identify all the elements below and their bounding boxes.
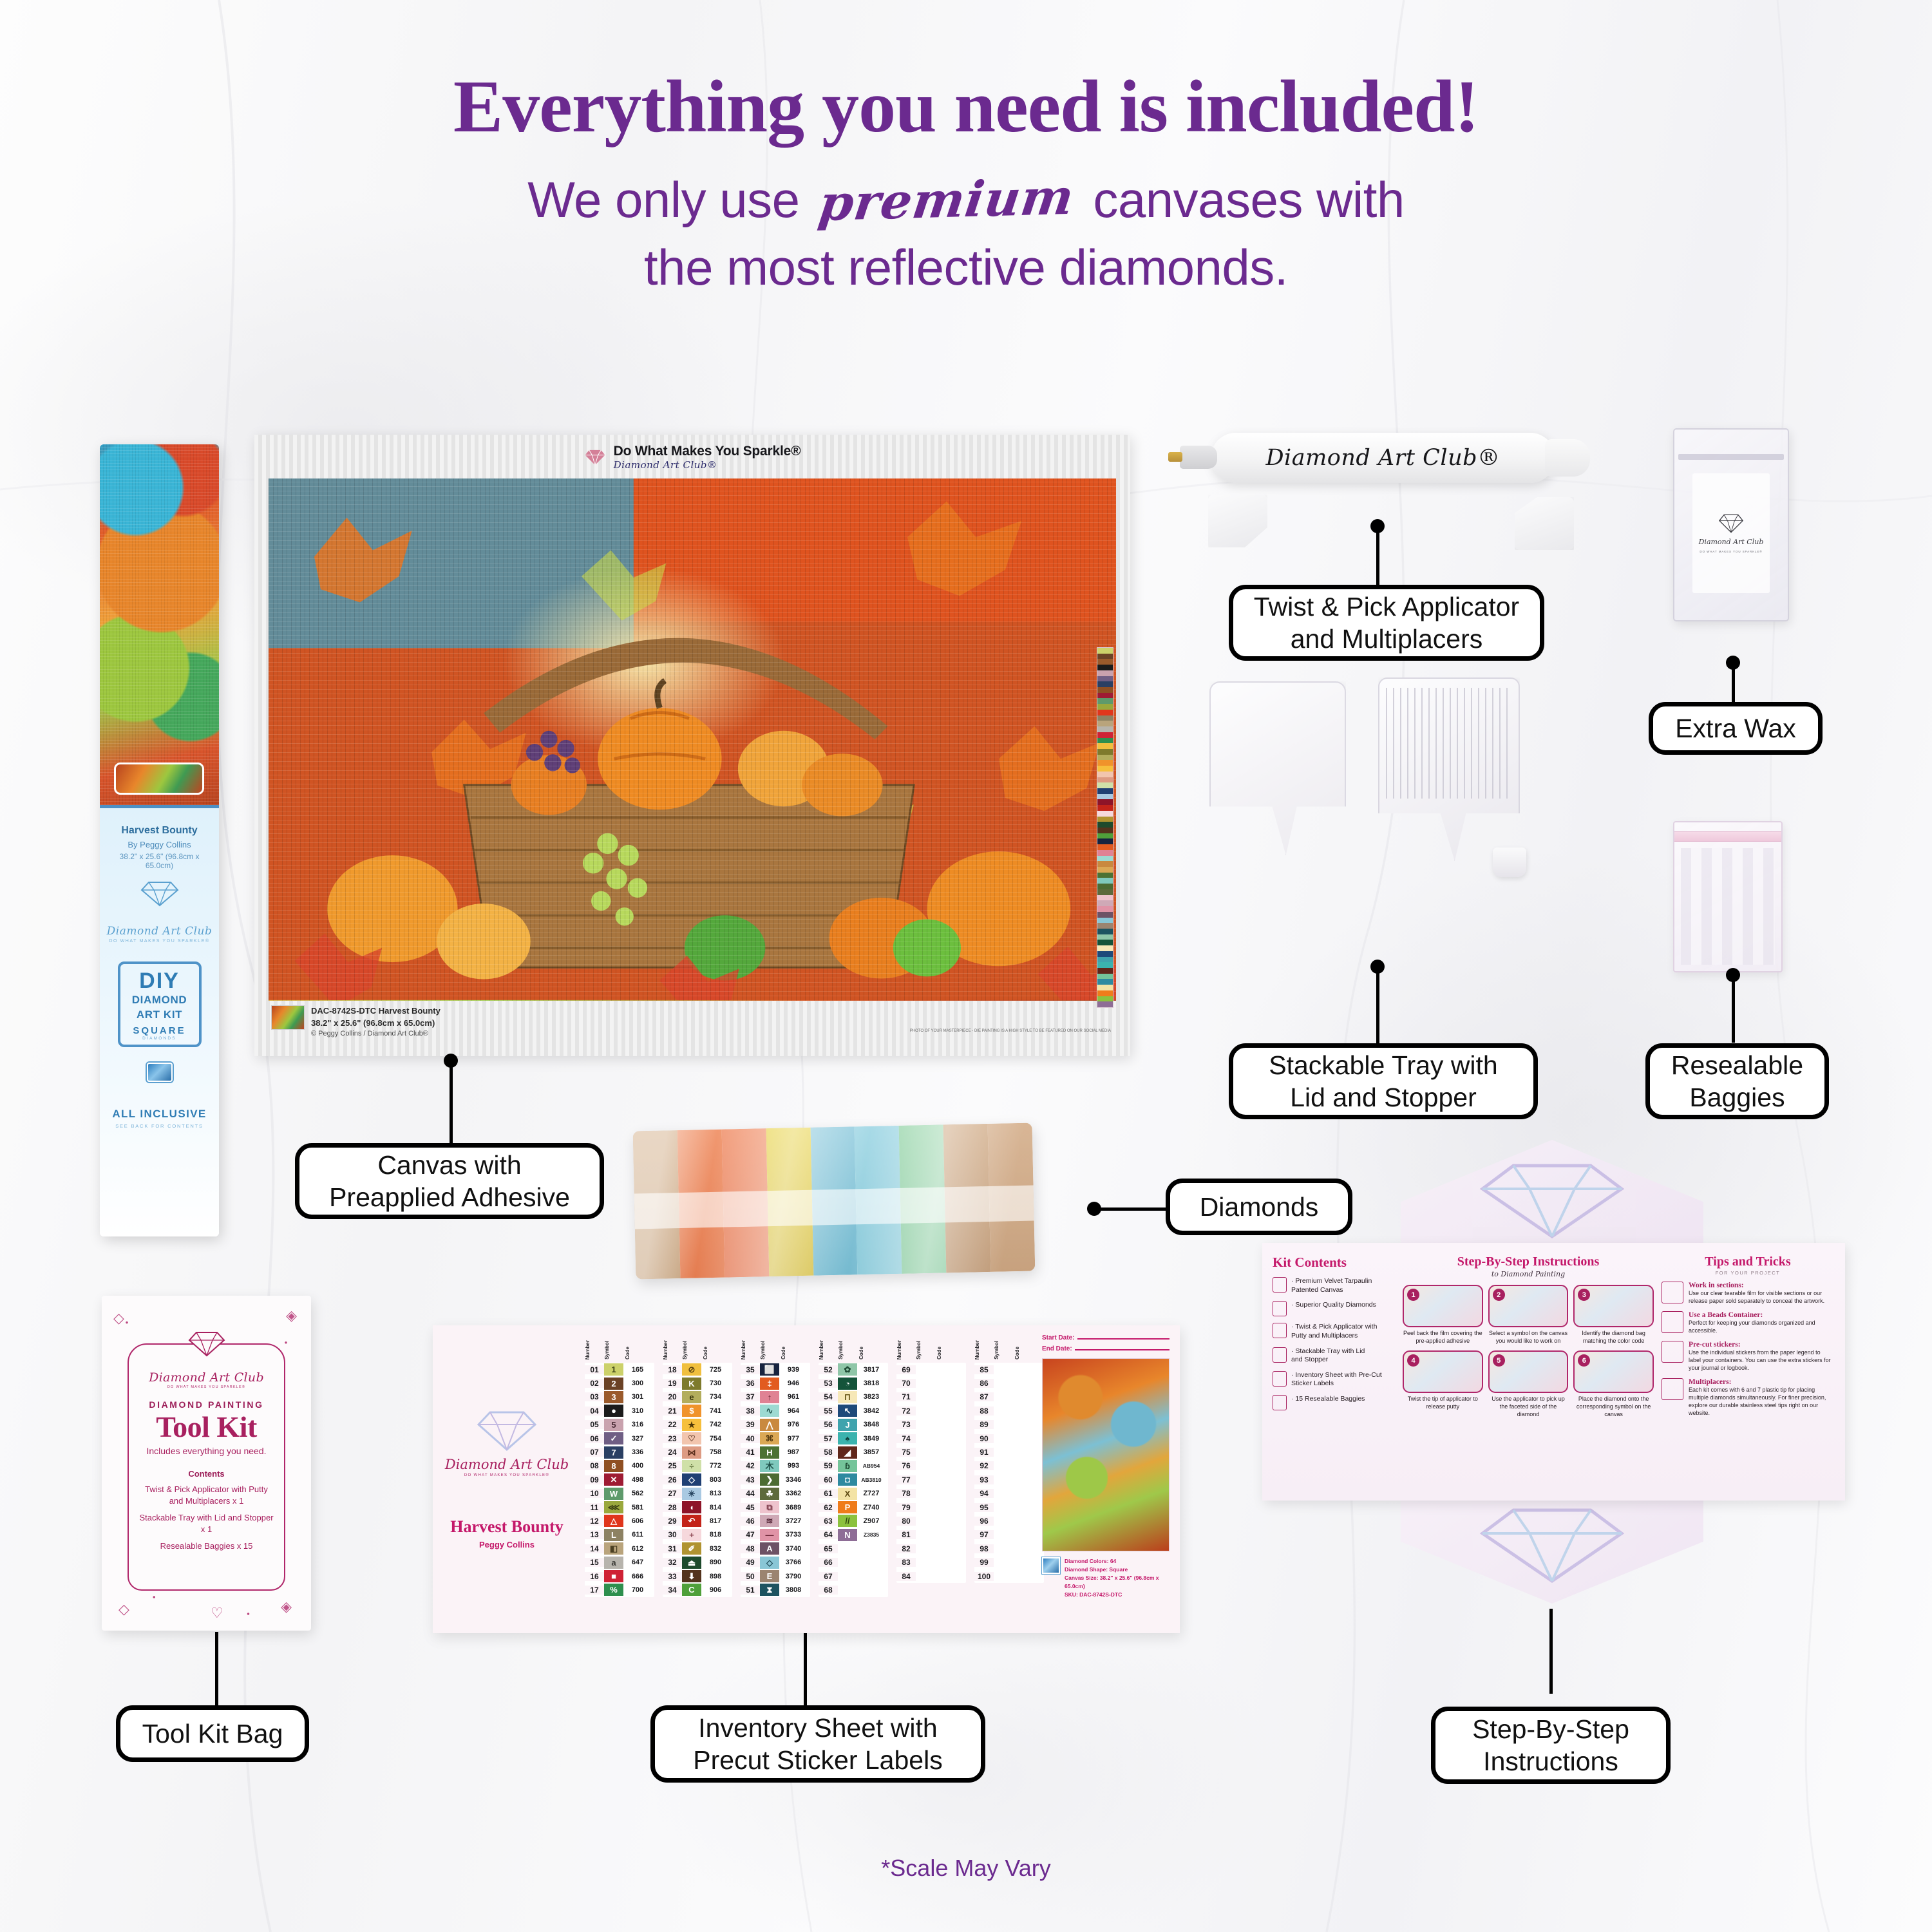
inventory-code: 976 — [779, 1421, 808, 1428]
inventory-code: 817 — [701, 1517, 730, 1525]
tip-icon — [1662, 1282, 1683, 1303]
inventory-number: 37 — [741, 1392, 760, 1401]
inventory-number: 75 — [896, 1448, 916, 1457]
inventory-row: 26◇803 — [663, 1473, 732, 1486]
gem-decor-icon: ♡ — [211, 1605, 223, 1622]
inventory-code: 612 — [623, 1545, 652, 1553]
page-subtitle: We only use premium canvases with the mo… — [0, 166, 1932, 301]
legend-swatch — [1097, 782, 1113, 788]
kit-contents-item: · 15 Resealable Baggies — [1273, 1395, 1399, 1410]
end-date-field[interactable]: End Date: — [1042, 1345, 1170, 1352]
step-number-badge: 1 — [1407, 1289, 1419, 1301]
inventory-column: NumberSymbolCode35⬜93936‡94637↑96138∿964… — [741, 1336, 810, 1597]
inventory-header-number: Number — [819, 1340, 824, 1359]
inventory-column: NumberSymbolCode52✿381753◔381854Π382355↖… — [819, 1336, 888, 1597]
inventory-code: 741 — [701, 1407, 730, 1415]
inventory-number: 03 — [585, 1392, 604, 1401]
inventory-number: 28 — [663, 1503, 682, 1512]
legend-swatch — [1097, 698, 1113, 704]
inventory-row: 39⋀976 — [741, 1418, 810, 1432]
tip-heading: Pre-cut stickers: — [1689, 1341, 1834, 1349]
diamond-icon — [476, 1409, 538, 1453]
multiplacer-left — [1208, 495, 1267, 547]
twist-and-pick-applicator: Diamond Art Club® — [1211, 433, 1555, 483]
inventory-column: NumberSymbolCode858687888990919293949596… — [974, 1336, 1044, 1597]
tip-body: Perfect for keeping your diamonds organi… — [1689, 1320, 1834, 1335]
inventory-row: 33⬇898 — [663, 1569, 732, 1583]
inventory-row: 12△606 — [585, 1514, 654, 1528]
inventory-row: 53◔3818 — [819, 1376, 888, 1390]
legend-swatch — [1097, 828, 1113, 833]
instruction-step: 5Use the applicator to pick up the facet… — [1488, 1350, 1569, 1418]
inventory-code: 987 — [779, 1448, 808, 1456]
tips-column: Tips and Tricks FOR YOUR PROJECT Work in… — [1654, 1255, 1834, 1489]
kit-contents-item: · Superior Quality Diamonds — [1273, 1301, 1399, 1316]
step-number-badge: 2 — [1493, 1289, 1505, 1301]
applicator-brand: Diamond Art Club® — [1211, 433, 1555, 483]
sleeve-title: Harvest Bounty — [106, 824, 213, 838]
inventory-row: 04●310 — [585, 1404, 654, 1417]
inventory-symbol-swatch: A — [760, 1542, 779, 1555]
inventory-number: 44 — [741, 1489, 760, 1498]
inventory-symbol-swatch: ✓ — [604, 1432, 623, 1444]
inventory-symbol-swatch — [916, 1432, 935, 1444]
kit-contents-label: · Stackable Tray with Lid and Stopper — [1291, 1347, 1365, 1365]
legend-swatch — [1097, 912, 1113, 918]
inventory-row: 94 — [974, 1487, 1044, 1501]
inventory-code: Z3835 — [857, 1531, 885, 1538]
inventory-code: 961 — [779, 1393, 808, 1401]
callout-canvas[interactable]: Canvas with Preapplied Adhesive — [295, 1143, 604, 1219]
legend-swatch — [1097, 710, 1113, 715]
inventory-row: 13L611 — [585, 1528, 654, 1542]
inventory-symbol-swatch: Π — [838, 1391, 857, 1403]
leader-dot-baggies — [1726, 968, 1740, 982]
inventory-code: 3346 — [779, 1476, 808, 1484]
inventory-symbol-swatch: ● — [604, 1405, 623, 1417]
inventory-symbol-swatch: ⊘ — [682, 1363, 701, 1376]
legend-swatch — [1097, 1001, 1113, 1007]
inventory-symbol-swatch — [916, 1515, 935, 1527]
legend-swatch — [1097, 726, 1113, 732]
inventory-row: 11⋘581 — [585, 1501, 654, 1514]
kit-contents-label: · Superior Quality Diamonds — [1291, 1301, 1376, 1310]
inventory-number: 84 — [896, 1572, 916, 1581]
instruction-step: 1Peel back the film covering the pre-app… — [1403, 1285, 1483, 1345]
inventory-symbol-swatch: ❯ — [760, 1473, 779, 1486]
inventory-code: AB3810 — [857, 1477, 885, 1483]
inventory-row: 82 — [896, 1542, 966, 1555]
inventory-code: 3727 — [779, 1517, 808, 1525]
inventory-row: 022300 — [585, 1376, 654, 1390]
inventory-number: 02 — [585, 1379, 604, 1388]
inventory-symbol-swatch: ■ — [604, 1570, 623, 1582]
inventory-symbol-swatch — [916, 1460, 935, 1472]
inventory-row: 60◘AB3810 — [819, 1473, 888, 1486]
step-number-badge: 5 — [1493, 1354, 1505, 1367]
inventory-row: 16■666 — [585, 1569, 654, 1583]
canvas-sku-title: DAC-8742S-DTC Harvest Bounty — [311, 1005, 440, 1017]
tip-body: Use the individual stickers from the pap… — [1689, 1349, 1834, 1372]
inventory-symbol-swatch: ✕ — [604, 1473, 623, 1486]
toolkit-content-item: Resealable Baggies x 15 — [138, 1540, 275, 1552]
inventory-number: 05 — [585, 1420, 604, 1429]
tip-heading: Work in sections: — [1689, 1282, 1834, 1289]
callout-diamonds[interactable]: Diamonds — [1166, 1179, 1352, 1235]
inventory-symbol-swatch — [994, 1460, 1013, 1472]
inventory-symbol-swatch: ⧉ — [760, 1501, 779, 1513]
inventory-row: 87 — [974, 1390, 1044, 1404]
inventory-number: 89 — [974, 1420, 994, 1429]
instruction-step-caption: Use the applicator to pick up the facete… — [1488, 1396, 1569, 1418]
inventory-symbol-swatch — [994, 1378, 1013, 1390]
inventory-code: 772 — [701, 1462, 730, 1470]
inventory-row: 62PZ740 — [819, 1501, 888, 1514]
canvas-brand: Diamond Art Club® — [614, 459, 801, 471]
inventory-code: 3817 — [857, 1366, 885, 1374]
inventory-number: 80 — [896, 1517, 916, 1526]
inventory-row: 75 — [896, 1445, 966, 1459]
inventory-code: 3842 — [857, 1407, 885, 1415]
inventory-code: 3818 — [857, 1379, 885, 1387]
inventory-row: 93 — [974, 1473, 1044, 1486]
wax-tagline: DO WHAT MAKES YOU SPARKLE® — [1700, 550, 1762, 553]
inventory-row: 50E3790 — [741, 1569, 810, 1583]
instruction-step-caption: Peel back the film covering the pre-appl… — [1403, 1330, 1483, 1345]
inventory-number: 90 — [974, 1434, 994, 1443]
inventory-symbol-swatch: ⋈ — [682, 1446, 701, 1459]
inventory-row: 57♠3849 — [819, 1432, 888, 1445]
inventory-code: 754 — [701, 1435, 730, 1443]
instruction-step-caption: Place the diamond onto the corresponding… — [1573, 1396, 1654, 1418]
leader-dot-applicator — [1370, 519, 1385, 533]
inventory-symbol-swatch — [994, 1557, 1013, 1569]
inventory-symbol-swatch: ‡ — [760, 1378, 779, 1390]
inventory-number: 24 — [663, 1448, 682, 1457]
diamond-bags-film — [633, 1123, 1036, 1280]
inventory-symbol-swatch: ↶ — [682, 1515, 701, 1527]
inventory-symbol-swatch: 2 — [604, 1378, 623, 1390]
steps-title: Step-By-Step Instructions — [1403, 1255, 1654, 1269]
inventory-artwork-preview — [1042, 1358, 1170, 1551]
inventory-symbol-swatch: a — [604, 1557, 623, 1569]
inventory-number: 47 — [741, 1530, 760, 1539]
inventory-symbol-swatch: ⏏ — [682, 1557, 701, 1569]
inventory-number: 72 — [896, 1406, 916, 1416]
inventory-number: 79 — [896, 1503, 916, 1512]
instruction-sheet-body: Kit Contents · Premium Velvet Tarpaulin … — [1262, 1243, 1845, 1501]
gem-decor-icon: ◇ — [118, 1601, 129, 1618]
inventory-row: 72 — [896, 1404, 966, 1417]
inventory-symbol-swatch — [916, 1501, 935, 1513]
gem-decor-icon: ◈ — [281, 1598, 292, 1615]
inventory-row: 54Π3823 — [819, 1390, 888, 1404]
inventory-number: 25 — [663, 1461, 682, 1470]
inventory-number: 71 — [896, 1392, 916, 1401]
kit-contents-icon — [1273, 1301, 1287, 1316]
diamond-bags-pack — [633, 1123, 1036, 1280]
inventory-brand-tagline: DO WHAT MAKES YOU SPARKLE® — [464, 1473, 549, 1477]
tool-kit-bag: ◇ ◈ ◇ ◈ ♡ Diamond Art Club DO WHAT MAKES… — [102, 1296, 311, 1631]
kit-contents-label: · Inventory Sheet with Pre-Cut Sticker L… — [1291, 1371, 1382, 1388]
inventory-number: 98 — [974, 1544, 994, 1553]
inventory-symbol-swatch — [994, 1473, 1013, 1486]
legend-swatch — [1097, 794, 1113, 800]
start-date-field[interactable]: Start Date: — [1042, 1334, 1170, 1341]
legend-swatch — [1097, 878, 1113, 884]
inventory-code: 3790 — [779, 1573, 808, 1580]
inventory-column: NumberSymbolCode01116502230003330104●310… — [585, 1336, 654, 1597]
inventory-symbol-swatch: 8 — [604, 1460, 623, 1472]
legend-swatch — [1097, 822, 1113, 828]
inventory-header-symbol: Symbol — [838, 1341, 844, 1359]
inventory-number: 19 — [663, 1379, 682, 1388]
inventory-symbol-swatch: K — [682, 1378, 701, 1390]
square-diamond-icon — [147, 1063, 173, 1082]
kit-contents-title: Kit Contents — [1273, 1255, 1399, 1271]
inventory-number: 16 — [585, 1572, 604, 1581]
toolkit-content-item: Twist & Pick Applicator with Putty and M… — [138, 1484, 275, 1507]
inventory-row: 79 — [896, 1501, 966, 1514]
inventory-number: 38 — [741, 1406, 760, 1416]
subtitle-emphasis-premium: premium — [808, 164, 1084, 237]
inventory-row: 49◇3766 — [741, 1555, 810, 1569]
callout-tray[interactable]: Stackable Tray with Lid and Stopper — [1229, 1043, 1538, 1119]
inventory-number: 34 — [663, 1586, 682, 1595]
sleeve-artist: By Peggy Collins — [106, 839, 213, 851]
inventory-number: 73 — [896, 1420, 916, 1429]
inventory-row: 14◧612 — [585, 1542, 654, 1555]
leader-dot-wax — [1726, 656, 1740, 670]
instruction-step: 2Select a symbol on the canvas you would… — [1488, 1285, 1569, 1345]
inventory-symbol-swatch — [916, 1473, 935, 1486]
legend-swatch — [1097, 777, 1113, 783]
legend-swatch — [1097, 687, 1113, 693]
instruction-step-image: 3 — [1573, 1285, 1654, 1327]
inventory-number: 15 — [585, 1558, 604, 1567]
kit-contents-item: · Stackable Tray with Lid and Stopper — [1273, 1347, 1399, 1365]
inventory-number: 08 — [585, 1461, 604, 1470]
inventory-number: 81 — [896, 1530, 916, 1539]
inventory-row: 89 — [974, 1418, 1044, 1432]
legend-swatch — [1097, 962, 1113, 968]
inventory-number: 55 — [819, 1406, 838, 1416]
callout-inventory[interactable]: Inventory Sheet with Precut Sticker Labe… — [650, 1705, 985, 1783]
sleeve-brand: Diamond Art Club — [106, 925, 213, 938]
diamond-icon — [140, 880, 180, 907]
inventory-symbol-swatch — [994, 1501, 1013, 1513]
gem-decor-icon: ◇ — [113, 1310, 124, 1327]
callout-wax[interactable]: Extra Wax — [1649, 702, 1823, 755]
inventory-code: 3689 — [779, 1504, 808, 1511]
instruction-step-image: 5 — [1488, 1350, 1569, 1393]
inventory-symbol-swatch — [994, 1542, 1013, 1555]
kit-contents-icon — [1273, 1277, 1287, 1293]
inventory-row: 97 — [974, 1528, 1044, 1542]
inventory-number: 35 — [741, 1365, 760, 1374]
legend-swatch — [1097, 844, 1113, 850]
spec-sku: SKU: DAC-8742S-DTC — [1065, 1591, 1170, 1599]
inventory-row: 24⋈758 — [663, 1445, 732, 1459]
inventory-row: 88 — [974, 1404, 1044, 1417]
inventory-row: 63//Z907 — [819, 1514, 888, 1528]
inventory-symbol-swatch — [916, 1542, 935, 1555]
inventory-row: 86 — [974, 1376, 1044, 1390]
callout-toolkit[interactable]: Tool Kit Bag — [116, 1705, 309, 1762]
inventory-row: 34C906 — [663, 1583, 732, 1596]
leader-dot-tray — [1370, 960, 1385, 974]
inventory-number: 46 — [741, 1517, 760, 1526]
steps-subtitle: to Diamond Painting — [1403, 1270, 1654, 1278]
legend-swatch — [1097, 817, 1113, 822]
inventory-code: 3848 — [857, 1421, 885, 1428]
toolkit-kicker: DIAMOND PAINTING — [138, 1399, 275, 1410]
inventory-symbol-swatch: ✿ — [838, 1363, 857, 1376]
legend-swatch — [1097, 743, 1113, 749]
inventory-symbol-swatch — [994, 1529, 1013, 1541]
legend-swatch — [1097, 721, 1113, 726]
inventory-row: 077336 — [585, 1445, 654, 1459]
inventory-number: 13 — [585, 1530, 604, 1539]
inventory-row: 91 — [974, 1445, 1044, 1459]
inventory-row: 45⧉3689 — [741, 1501, 810, 1514]
inventory-symbol-swatch: E — [760, 1570, 779, 1582]
legend-swatch — [1097, 788, 1113, 794]
callout-baggies[interactable]: Resealable Baggies — [1645, 1043, 1829, 1119]
tip-heading: Multiplacers: — [1689, 1378, 1834, 1386]
legend-swatch — [1097, 766, 1113, 772]
inventory-row: 36‡946 — [741, 1376, 810, 1390]
instruction-step-image: 6 — [1573, 1350, 1654, 1393]
inventory-number: 51 — [741, 1586, 760, 1595]
product-sleeve: Harvest Bounty By Peggy Collins 38.2" x … — [100, 444, 219, 1236]
inventory-code: Z740 — [857, 1504, 885, 1511]
leader-line-inventory — [804, 1633, 807, 1716]
headline-block: Everything you need is included! We only… — [0, 70, 1932, 301]
legend-swatch — [1097, 951, 1113, 957]
spec-canvas-size: Canvas Size: 38.2" x 25.6" (96.8cm x 65.… — [1065, 1574, 1170, 1591]
kit-contents-label: · 15 Resealable Baggies — [1291, 1395, 1365, 1404]
subtitle-line-2: the most reflective diamonds. — [644, 239, 1288, 296]
kit-contents-item: · Premium Velvet Tarpaulin Patented Canv… — [1273, 1277, 1399, 1294]
inventory-number: 63 — [819, 1517, 838, 1526]
inventory-number: 97 — [974, 1530, 994, 1539]
toolkit-brand-tagline: DO WHAT MAKES YOU SPARKLE® — [138, 1385, 275, 1389]
inventory-symbol-swatch: 1 — [604, 1363, 623, 1376]
inventory-symbol-swatch: ↑ — [760, 1391, 779, 1403]
legend-swatch — [1097, 738, 1113, 744]
legend-swatch — [1097, 760, 1113, 766]
inventory-number: 12 — [585, 1517, 604, 1526]
inventory-symbol-swatch: ◢ — [838, 1446, 857, 1459]
inventory-code: 734 — [701, 1393, 730, 1401]
diamond-emblem-icon — [1475, 1502, 1629, 1586]
inventory-brand: Diamond Art Club — [445, 1457, 569, 1472]
kit-contents-label: · Premium Velvet Tarpaulin Patented Canv… — [1291, 1277, 1372, 1294]
inventory-code: 310 — [623, 1407, 652, 1415]
leader-line-applicator — [1376, 527, 1379, 585]
toolkit-tagline: Includes everything you need. — [138, 1446, 275, 1456]
inventory-code: 3823 — [857, 1393, 885, 1401]
inventory-symbol-swatch: C — [682, 1584, 701, 1596]
tray-ribs — [1386, 688, 1512, 799]
inventory-row: 23♡754 — [663, 1432, 732, 1445]
inventory-row: 22★742 — [663, 1418, 732, 1432]
inventory-row: 99 — [974, 1555, 1044, 1569]
inventory-number: 01 — [585, 1365, 604, 1374]
scale-disclaimer: *Scale May Vary — [0, 1855, 1932, 1882]
inventory-number: 82 — [896, 1544, 916, 1553]
multiplacer-right — [1515, 497, 1574, 550]
inventory-number: 48 — [741, 1544, 760, 1553]
instruction-step-caption: Identify the diamond bag matching the co… — [1573, 1330, 1654, 1345]
leader-line-tray — [1376, 966, 1379, 1043]
inventory-symbol-swatch — [994, 1570, 1013, 1582]
callout-instructions[interactable]: Step-By-Step Instructions — [1431, 1707, 1671, 1784]
inventory-code: 939 — [779, 1366, 808, 1374]
legend-swatch — [1097, 867, 1113, 873]
inventory-symbol-swatch: ⋀ — [760, 1419, 779, 1431]
diamond-logo-icon — [584, 449, 606, 466]
inventory-code: 562 — [623, 1490, 652, 1497]
inventory-row: 90 — [974, 1432, 1044, 1445]
inventory-row: 58◢3857 — [819, 1445, 888, 1459]
tray-stopper — [1493, 848, 1526, 877]
inventory-row: 64NZ3835 — [819, 1528, 888, 1542]
inventory-symbol-swatch: △ — [604, 1515, 623, 1527]
inventory-row: 18⊘725 — [663, 1363, 732, 1376]
inventory-code: 906 — [701, 1586, 730, 1594]
inventory-row: 52✿3817 — [819, 1363, 888, 1376]
inventory-row: 100 — [974, 1569, 1044, 1583]
inventory-row: 40⌘977 — [741, 1432, 810, 1445]
inventory-number: 21 — [663, 1406, 682, 1416]
inventory-number: 64 — [819, 1530, 838, 1539]
inventory-number: 85 — [974, 1365, 994, 1374]
inventory-number: 62 — [819, 1503, 838, 1512]
legend-swatch — [1097, 755, 1113, 761]
inventory-row: 055316 — [585, 1418, 654, 1432]
diy-kit-badge: DIY DIAMOND ART KIT SQUARE DIAMONDS — [118, 961, 202, 1047]
inventory-code: 611 — [623, 1531, 652, 1539]
inventory-code: 813 — [701, 1490, 730, 1497]
kit-line-2: ART KIT — [123, 1009, 196, 1021]
inventory-symbol-swatch — [916, 1488, 935, 1500]
canvas-footer: DAC-8742S-DTC Harvest Bounty 38.2" x 25.… — [271, 1005, 440, 1039]
inventory-number: 68 — [819, 1586, 838, 1595]
callout-applicator[interactable]: Twist & Pick Applicator and Multiplacers — [1229, 585, 1544, 661]
inventory-row: 19K730 — [663, 1376, 732, 1390]
canvas-preview-thumbnail — [271, 1005, 305, 1030]
inventory-number: 30 — [663, 1530, 682, 1539]
inventory-number: 52 — [819, 1365, 838, 1374]
inventory-row: 48A3740 — [741, 1542, 810, 1555]
inventory-column: NumberSymbolCode697071727374757677787980… — [896, 1336, 966, 1597]
inventory-symbol-swatch: ◧ — [604, 1542, 623, 1555]
inventory-symbol-swatch: ◇ — [760, 1557, 779, 1569]
inventory-row: 61XZ727 — [819, 1487, 888, 1501]
inventory-code: 165 — [623, 1366, 652, 1374]
sleeve-brand-tagline: DO WHAT MAKES YOU SPARKLE® — [106, 939, 213, 943]
inventory-title-panel: Diamond Art Club DO WHAT MAKES YOU SPARK… — [433, 1325, 581, 1633]
kit-line-1: DIAMOND — [123, 994, 196, 1006]
legend-swatch — [1097, 833, 1113, 839]
kit-contents-icon — [1273, 1395, 1287, 1410]
inventory-number: 61 — [819, 1489, 838, 1498]
inventory-symbol-swatch — [916, 1391, 935, 1403]
inventory-code: 666 — [623, 1573, 652, 1580]
inventory-row: 06✓327 — [585, 1432, 654, 1445]
